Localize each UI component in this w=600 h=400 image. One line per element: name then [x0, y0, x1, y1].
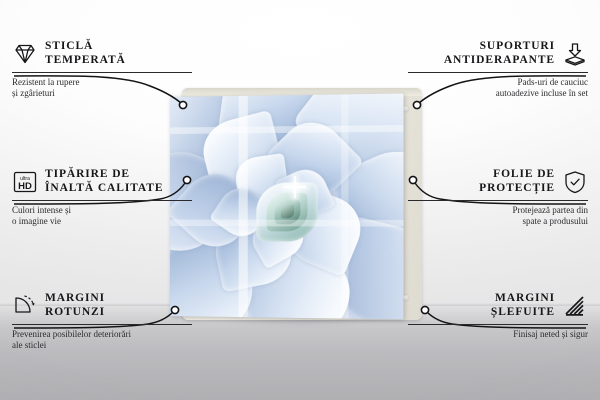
feature-title: SUPORTURI ANTIDERAPANTE — [444, 40, 555, 67]
feature-protective-foil: FOLIE DE PROTECȚIE Protejează partea din… — [408, 168, 588, 227]
feature-title: TIPĂRIRE DE ÎNALTĂ CALITATE — [45, 168, 163, 195]
feature-divider — [408, 72, 588, 73]
feature-divider — [408, 324, 588, 325]
feature-description: Pads-uri de cauciuc autoadezive incluse … — [408, 77, 588, 99]
shield-check-icon — [562, 170, 588, 194]
feature-divider — [12, 72, 192, 73]
product-infographic: STICLĂ TEMPERATĂ Rezistent la rupere și … — [0, 0, 600, 400]
feature-rounded-edges: MARGINI ROTUNZI Prevenirea posibilelor d… — [12, 292, 192, 351]
ultra-hd-icon: ultra HD — [12, 170, 38, 194]
feature-description: Finisaj neted și sigur — [408, 329, 588, 340]
feature-divider — [12, 200, 192, 201]
feature-description: Prevenirea posibilelor deteriorări ale s… — [12, 329, 192, 351]
feature-title: STICLĂ TEMPERATĂ — [45, 40, 126, 67]
anti-slip-pad-icon — [562, 42, 588, 66]
svg-text:HD: HD — [18, 181, 32, 192]
feature-high-quality-print: ultra HD TIPĂRIRE DE ÎNALTĂ CALITATE Cul… — [12, 168, 192, 227]
feature-polished-edges: MARGINI ȘLEFUITE Finisaj neted și sigur — [408, 292, 588, 340]
feature-anti-slip-pads: SUPORTURI ANTIDERAPANTE Pads-uri de cauc… — [408, 40, 588, 99]
feature-description: Culori intense și o imagine vie — [12, 205, 192, 227]
feature-divider — [408, 200, 588, 201]
feature-title: FOLIE DE PROTECȚIE — [479, 168, 555, 195]
feature-tempered-glass: STICLĂ TEMPERATĂ Rezistent la rupere și … — [12, 40, 192, 99]
feature-title: MARGINI ROTUNZI — [45, 292, 105, 319]
polished-edge-icon — [562, 294, 588, 318]
feature-description: Protejează partea din spate a produsului — [408, 205, 588, 227]
rounded-corner-icon — [12, 294, 38, 318]
feature-description: Rezistent la rupere și zgârieturi — [12, 77, 192, 99]
feature-divider — [12, 324, 192, 325]
feature-title: MARGINI ȘLEFUITE — [491, 292, 555, 319]
diamond-icon — [12, 42, 38, 66]
